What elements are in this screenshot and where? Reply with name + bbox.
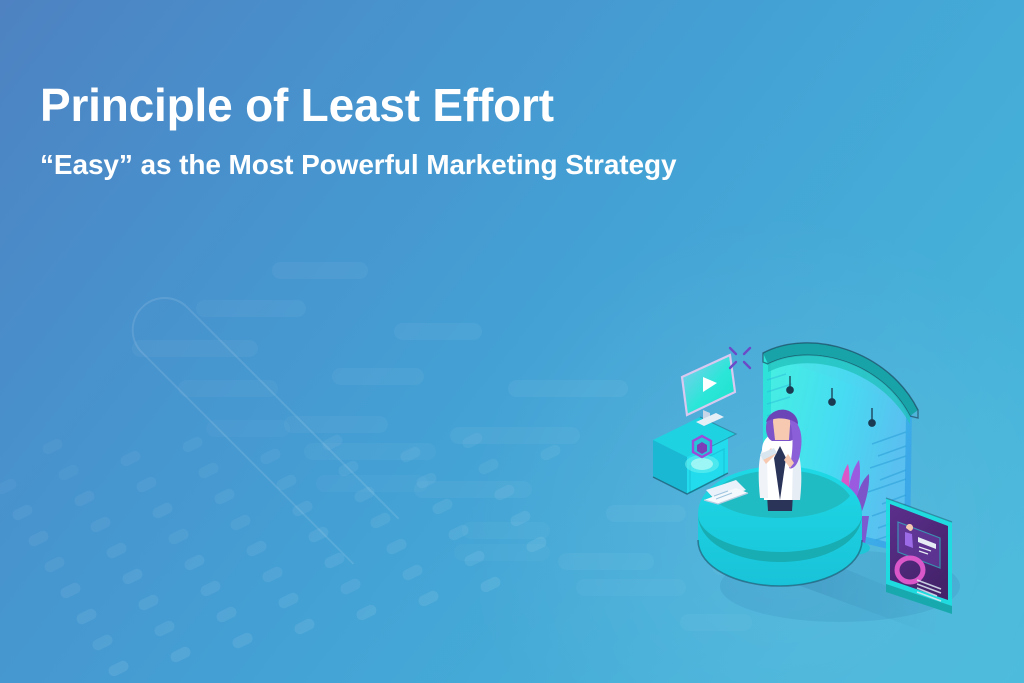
dot-decor xyxy=(417,589,441,608)
capsule-decor xyxy=(178,380,278,397)
dot-decor xyxy=(321,433,345,452)
dot-decor xyxy=(385,537,409,556)
dot-decor xyxy=(135,475,159,494)
dot-decor xyxy=(293,617,317,636)
dot-decor xyxy=(231,631,255,650)
capsule-decor xyxy=(332,368,424,385)
capsule-decor xyxy=(272,262,368,279)
dot-decor xyxy=(119,449,143,468)
dot-decor xyxy=(167,527,191,546)
dot-decor xyxy=(477,457,501,476)
dot-decor xyxy=(339,577,363,596)
page-title: Principle of Least Effort xyxy=(40,80,676,132)
dot-decor xyxy=(337,459,361,478)
dot-decor xyxy=(75,607,99,626)
dot-decor xyxy=(447,523,471,542)
dot-decor xyxy=(57,463,81,482)
capsule-decor xyxy=(454,544,550,561)
dot-decor xyxy=(399,445,423,464)
dot-decor xyxy=(27,529,51,548)
dot-decor xyxy=(353,485,377,504)
dot-decor xyxy=(59,581,83,600)
dot-decor xyxy=(151,501,175,520)
dot-decor xyxy=(431,497,455,516)
dot-decor xyxy=(275,473,299,492)
dot-decor xyxy=(169,645,193,664)
dot-decor xyxy=(197,461,221,480)
capsule-decor xyxy=(462,522,550,539)
dot-decor xyxy=(245,539,269,558)
capsule-decor xyxy=(394,323,482,340)
dot-decor xyxy=(479,575,503,594)
page-subtitle: “Easy” as the Most Powerful Marketing St… xyxy=(40,148,676,182)
dot-decor xyxy=(199,579,223,598)
dot-decor xyxy=(229,513,253,532)
dot-decor xyxy=(0,477,18,496)
capsule-decor xyxy=(450,427,580,444)
hairpin-outline-decor xyxy=(118,283,399,564)
dot-decor xyxy=(153,619,177,638)
dot-decor xyxy=(307,525,331,544)
dot-decor xyxy=(89,515,113,534)
dot-decor xyxy=(213,487,237,506)
capsule-decor xyxy=(284,416,388,433)
dot-decor xyxy=(43,555,67,574)
dot-decor xyxy=(259,447,283,466)
dot-decor xyxy=(461,431,485,450)
headline-block: Principle of Least Effort “Easy” as the … xyxy=(40,80,676,181)
dot-decor xyxy=(493,483,517,502)
dot-decor xyxy=(91,633,115,652)
capsule-decor xyxy=(196,300,306,317)
dot-decor xyxy=(525,535,549,554)
sparkle-icon xyxy=(730,348,750,368)
dot-decor xyxy=(355,603,379,622)
capsule-decor xyxy=(206,420,290,437)
dot-decor xyxy=(181,435,205,454)
dot-decor xyxy=(0,451,2,470)
dot-decor xyxy=(277,591,301,610)
dot-decor xyxy=(509,509,533,528)
capsule-decor xyxy=(508,380,628,397)
dot-decor xyxy=(41,437,65,456)
trade-show-booth-illustration xyxy=(640,318,970,638)
dot-decor xyxy=(215,605,239,624)
slide-canvas: Principle of Least Effort “Easy” as the … xyxy=(0,0,1024,683)
dot-decor xyxy=(415,471,439,490)
dot-decor xyxy=(539,443,563,462)
capsule-decor xyxy=(414,481,532,498)
capsule-decor xyxy=(132,340,258,357)
dot-decor xyxy=(401,563,425,582)
tv-monitor xyxy=(682,355,735,426)
dot-decor xyxy=(369,511,393,530)
capsule-decor xyxy=(316,475,428,492)
dot-decor xyxy=(73,489,97,508)
dot-decor xyxy=(463,549,487,568)
capsule-decor xyxy=(304,443,436,460)
dot-decor xyxy=(183,553,207,572)
dot-decor xyxy=(107,659,131,678)
dot-decor xyxy=(323,551,347,570)
dot-decor xyxy=(261,565,285,584)
dot-decor xyxy=(121,567,145,586)
dot-decor xyxy=(105,541,129,560)
dot-decor xyxy=(11,503,35,522)
dot-decor xyxy=(137,593,161,612)
dot-decor xyxy=(291,499,315,518)
